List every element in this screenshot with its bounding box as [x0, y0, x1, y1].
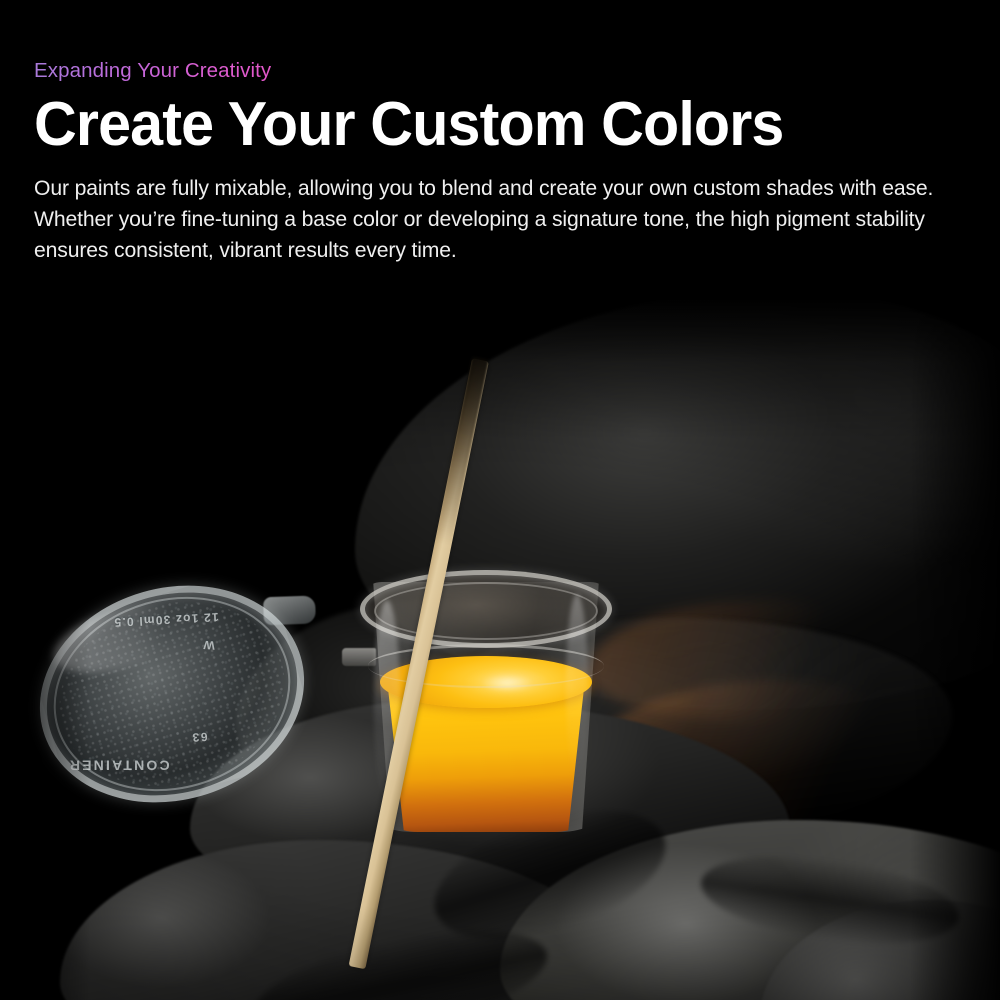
- product-photo: 12 1oz 30ml 0.5 CONTAINER W 63: [0, 300, 1000, 1000]
- cup-hinge-tab: [342, 648, 376, 666]
- copy-block: Expanding Your Creativity Create Your Cu…: [34, 58, 974, 266]
- body-paragraph: Our paints are fully mixable, allowing y…: [34, 173, 955, 266]
- page-title: Create Your Custom Colors: [34, 93, 932, 157]
- paint-swirl-highlight: [464, 668, 550, 698]
- cup-rim-inner: [374, 582, 598, 640]
- lid-hinge-tab: [263, 595, 316, 625]
- cup-highlight-right: [566, 594, 588, 784]
- promo-banner: Expanding Your Creativity Create Your Cu…: [0, 0, 1000, 1000]
- eyebrow-text: Expanding Your Creativity: [34, 58, 271, 84]
